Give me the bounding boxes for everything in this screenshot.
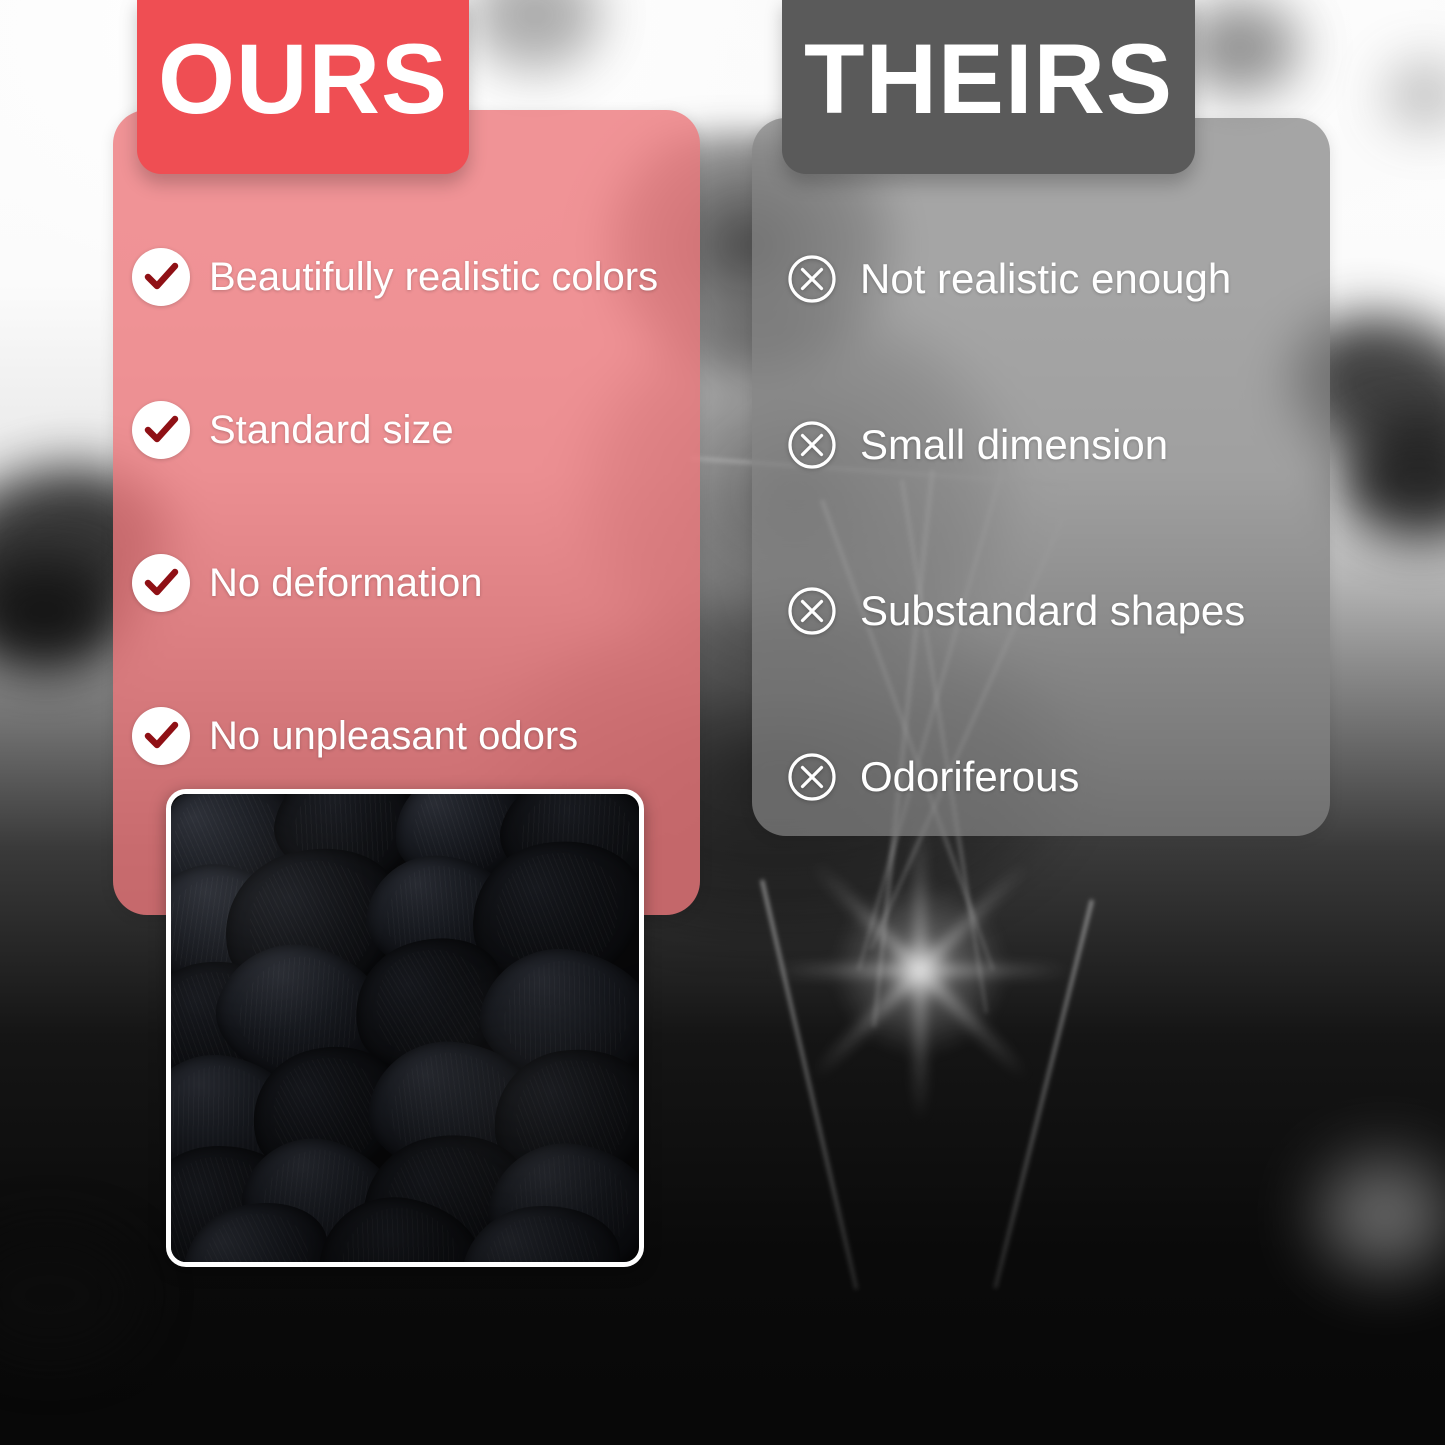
- background-blur-blob: [1320, 1160, 1445, 1270]
- ours-header-label: OURS: [158, 29, 448, 128]
- list-item-label: Beautifully realistic colors: [209, 256, 658, 298]
- list-item: Standard size: [132, 353, 692, 506]
- list-item-label: Not realistic enough: [860, 257, 1231, 301]
- cross-circle-icon: [786, 253, 838, 305]
- background-light-flare: [760, 820, 1080, 1120]
- check-icon: [132, 554, 190, 612]
- ours-feature-list: Beautifully realistic colors Standard si…: [132, 200, 692, 812]
- cross-circle-icon: [786, 751, 838, 803]
- cross-circle-icon: [786, 585, 838, 637]
- list-item-label: No deformation: [209, 562, 482, 604]
- check-icon: [132, 707, 190, 765]
- theirs-feature-list: Not realistic enough Small dimension Sub…: [786, 196, 1346, 860]
- list-item: Beautifully realistic colors: [132, 200, 692, 353]
- list-item: No deformation: [132, 506, 692, 659]
- list-item: Substandard shapes: [786, 528, 1346, 694]
- check-icon: [132, 401, 190, 459]
- list-item-label: Small dimension: [860, 423, 1168, 467]
- ours-header-tab: OURS: [137, 0, 469, 174]
- check-icon: [132, 248, 190, 306]
- list-item: Small dimension: [786, 362, 1346, 528]
- cross-circle-icon: [786, 419, 838, 471]
- theirs-header-tab: THEIRS: [782, 0, 1195, 174]
- list-item: Odoriferous: [786, 694, 1346, 860]
- list-item-label: No unpleasant odors: [209, 715, 578, 757]
- theirs-header-label: THEIRS: [804, 29, 1173, 128]
- list-item-label: Substandard shapes: [860, 589, 1245, 633]
- list-item-label: Standard size: [209, 409, 454, 451]
- list-item-label: Odoriferous: [860, 755, 1079, 799]
- comparison-infographic: Beautifully realistic colors Standard si…: [0, 0, 1445, 1445]
- background-blur-blob: [1180, 0, 1300, 95]
- list-item: Not realistic enough: [786, 196, 1346, 362]
- product-photo-inset: [166, 789, 644, 1267]
- photo-shading-overlay: [171, 794, 639, 1262]
